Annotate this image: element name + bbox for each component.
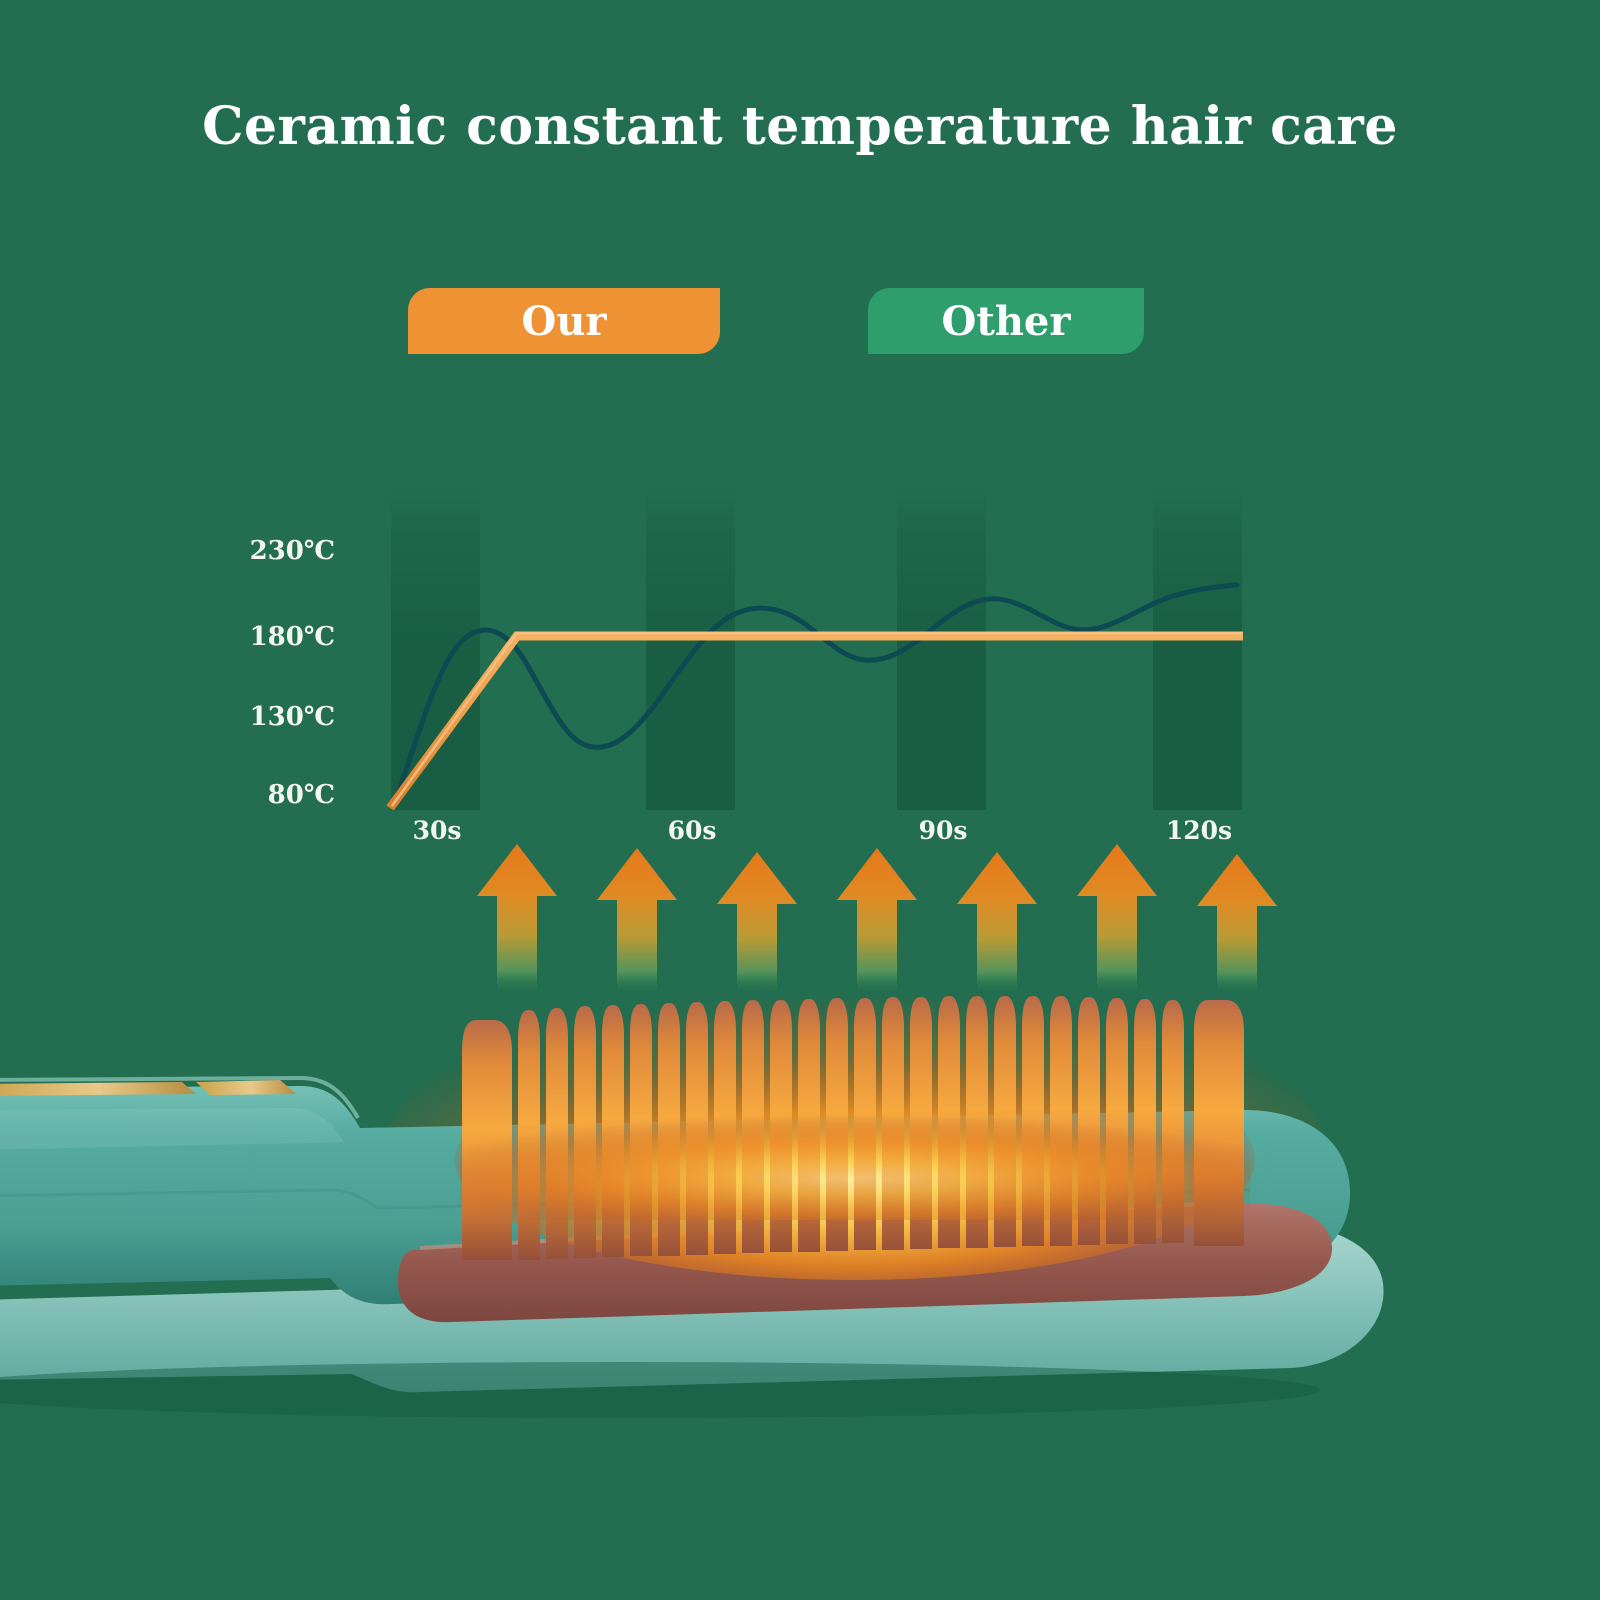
product-photo: [0, 960, 1600, 1600]
promo-image: Ceramic constant temperature hair care O…: [0, 0, 1600, 1600]
y-axis-label-130: 130℃: [215, 702, 335, 732]
gold-accent-right: [196, 1080, 296, 1095]
page-title: Ceramic constant temperature hair care: [0, 96, 1600, 157]
temperature-chart: 230℃ 180℃ 130℃ 80℃: [230, 490, 1250, 850]
gold-accent-left: [0, 1082, 196, 1096]
legend-pill-our[interactable]: Our: [408, 288, 720, 354]
chart-line-other: [393, 585, 1237, 808]
legend-label-other: Other: [942, 298, 1071, 345]
y-axis-label-230: 230℃: [215, 536, 335, 566]
chart-series-svg: [365, 490, 1245, 810]
teeth-glow-band: [460, 1110, 1250, 1220]
chart-line-our: [390, 636, 1243, 808]
y-axis-label-180: 180℃: [215, 622, 335, 652]
y-axis-label-80: 80℃: [215, 780, 335, 810]
chart-line-our-highlight: [392, 633, 1243, 806]
legend-label-our: Our: [522, 298, 607, 345]
legend-pill-other[interactable]: Other: [868, 288, 1144, 354]
chart-plot-area: 30s 60s 90s 120s: [365, 490, 1245, 810]
